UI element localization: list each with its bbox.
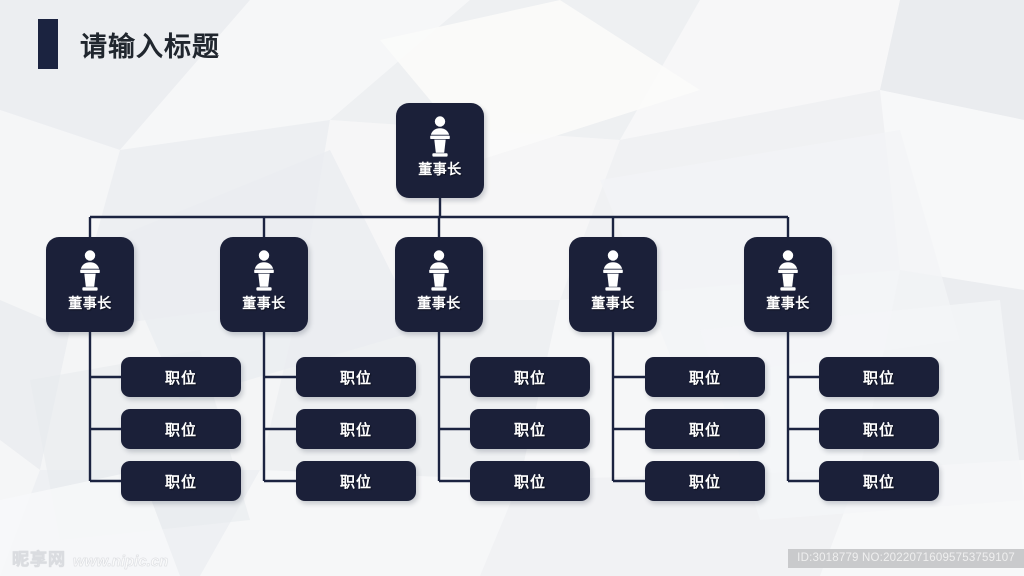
org-node-label: 董事长 [242,296,286,310]
org-node-label: 职位 [340,367,372,388]
podium-speaker-icon [422,249,456,293]
org-node-manager-4[interactable]: 董事长 [569,237,657,332]
org-node-label: 职位 [863,471,895,492]
org-node-manager-1[interactable]: 董事长 [46,237,134,332]
org-node-label: 职位 [165,419,197,440]
org-node-position[interactable]: 职位 [121,409,241,449]
org-node-manager-5[interactable]: 董事长 [744,237,832,332]
org-node-label: 董事长 [418,162,462,176]
org-node-label: 职位 [165,471,197,492]
org-node-label: 职位 [165,367,197,388]
org-node-label: 职位 [514,419,546,440]
org-node-position[interactable]: 职位 [121,357,241,397]
org-node-position[interactable]: 职位 [645,461,765,501]
org-node-position[interactable]: 职位 [645,357,765,397]
org-node-position[interactable]: 职位 [819,461,939,501]
org-node-manager-3[interactable]: 董事长 [395,237,483,332]
org-node-label: 董事长 [591,296,635,310]
podium-speaker-icon [596,249,630,293]
org-node-label: 职位 [340,419,372,440]
org-node-label: 职位 [863,367,895,388]
org-node-label: 职位 [689,367,721,388]
podium-speaker-icon [247,249,281,293]
org-node-label: 职位 [863,419,895,440]
org-node-position[interactable]: 职位 [296,461,416,501]
image-id-badge: ID:3018779 NO:20220716095753759107 [788,549,1024,568]
org-node-label: 职位 [689,471,721,492]
org-node-label: 董事长 [68,296,112,310]
org-node-label: 董事长 [766,296,810,310]
org-node-label: 职位 [689,419,721,440]
org-node-position[interactable]: 职位 [470,357,590,397]
org-node-position[interactable]: 职位 [296,357,416,397]
podium-speaker-icon [423,115,457,159]
org-node-label: 职位 [514,471,546,492]
org-node-label: 董事长 [417,296,461,310]
org-chart: 董事长 董事长 董事长 [0,0,1024,576]
org-node-position[interactable]: 职位 [645,409,765,449]
org-node-position[interactable]: 职位 [819,409,939,449]
org-node-chairman-root[interactable]: 董事长 [396,103,484,198]
org-node-manager-2[interactable]: 董事长 [220,237,308,332]
org-node-position[interactable]: 职位 [470,461,590,501]
org-node-position[interactable]: 职位 [121,461,241,501]
podium-speaker-icon [73,249,107,293]
org-node-label: 职位 [514,367,546,388]
org-node-position[interactable]: 职位 [470,409,590,449]
podium-speaker-icon [771,249,805,293]
slide-canvas: 请输入标题 [0,0,1024,576]
org-node-position[interactable]: 职位 [296,409,416,449]
org-node-position[interactable]: 职位 [819,357,939,397]
org-node-label: 职位 [340,471,372,492]
